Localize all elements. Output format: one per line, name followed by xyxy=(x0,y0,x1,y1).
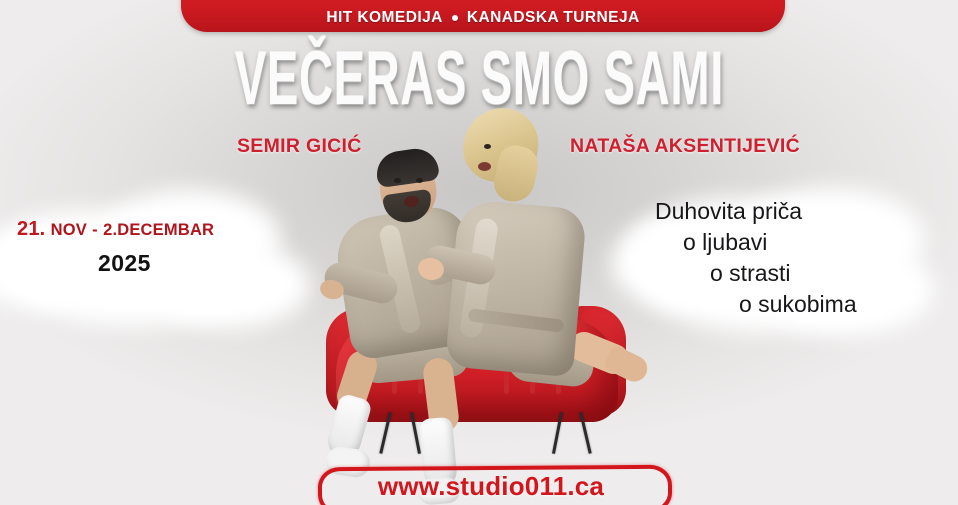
tagline-line-3: o strasti xyxy=(655,258,945,289)
bullet-dot-icon xyxy=(452,15,458,21)
event-poster: HIT KOMEDIJA KANADSKA TURNEJA VEČERAS SM… xyxy=(0,0,958,505)
date-range: 21. NOV - 2.DECEMBAR xyxy=(0,218,300,241)
man-eye-right xyxy=(416,178,423,183)
date-day-end: 2.DECEMBAR xyxy=(103,221,214,239)
tagline-block: Duhovita priča o ljubavi o strasti o suk… xyxy=(655,196,945,320)
top-banner: HIT KOMEDIJA KANADSKA TURNEJA xyxy=(181,0,785,32)
woman-mouth xyxy=(478,162,491,171)
date-day-start: 21. xyxy=(17,218,45,240)
banner-content: HIT KOMEDIJA KANADSKA TURNEJA xyxy=(326,9,639,27)
tagline-line-4: o sukobima xyxy=(655,289,945,320)
website-link[interactable]: www.studio011.ca xyxy=(318,466,664,505)
cast-photo xyxy=(318,100,658,460)
man-eye-left xyxy=(394,178,401,183)
website-url-text: www.studio011.ca xyxy=(318,466,664,505)
date-year: 2025 xyxy=(0,250,300,277)
banner-left-text: HIT KOMEDIJA xyxy=(326,9,443,27)
date-dash: - xyxy=(92,221,98,239)
date-block: 21. NOV - 2.DECEMBAR 2025 xyxy=(0,218,300,277)
banner-right-text: KANADSKA TURNEJA xyxy=(467,9,640,27)
tagline-line-2: o ljubavi xyxy=(655,227,945,258)
date-month-start: NOV xyxy=(51,221,87,239)
tagline-line-1: Duhovita priča xyxy=(655,196,945,227)
woman-eye xyxy=(484,144,491,149)
